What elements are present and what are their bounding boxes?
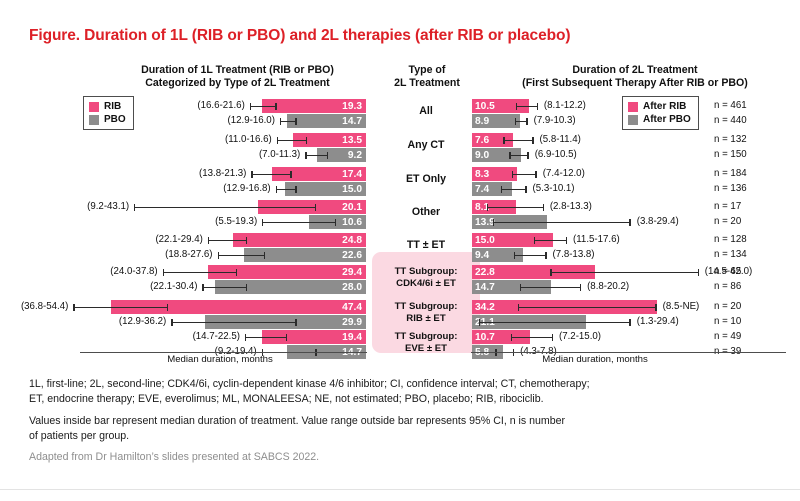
n-count-label: n = 10 xyxy=(714,316,741,327)
n-count-label: n = 86 xyxy=(714,281,741,292)
bar-pbo: 15.0 xyxy=(285,182,366,196)
category-label-line1: TT Subgroup: xyxy=(370,301,482,313)
n-count-label: n = 184 xyxy=(714,168,747,179)
category-label-1: Any CT xyxy=(370,139,482,151)
n-count-label: n = 136 xyxy=(714,183,747,194)
footnote-note-line1: Values inside bar represent median durat… xyxy=(29,414,781,429)
bar-value-label: 29.4 xyxy=(342,267,362,278)
right-axis-title: Median duration, months xyxy=(480,354,710,365)
category-label-3: Other xyxy=(370,206,482,218)
bar-pbo: 14.7 xyxy=(472,280,551,294)
category-label-line2: EVE ± ET xyxy=(370,343,482,355)
bar-pbo: 21.1 xyxy=(472,315,586,329)
n-count-label: n = 440 xyxy=(714,115,747,126)
ci-label-right-chart: (3.8-29.4) xyxy=(637,216,679,227)
bar-value-label: 20.1 xyxy=(342,202,362,213)
bar-pbo: 28.0 xyxy=(215,280,366,294)
category-label-2: ET Only xyxy=(370,173,482,185)
ci-label-right-chart: (8.5-NE) xyxy=(663,301,700,312)
bar-rib: 20.1 xyxy=(258,200,366,214)
bar-value-label: 14.7 xyxy=(342,116,362,127)
left-panel-header-line1: Duration of 1L Treatment (RIB or PBO) xyxy=(95,64,380,77)
legend-item-after-pbo: After PBO xyxy=(628,113,691,126)
n-count-label: n = 128 xyxy=(714,234,747,245)
ci-label-right-chart: (14.5-42.0) xyxy=(705,266,752,277)
middle-column-header: Type of 2L Treatment xyxy=(372,64,482,89)
bar-rib: 19.3 xyxy=(262,99,366,113)
chart-duration-1l: 19.314.713.59.217.415.020.110.624.822.62… xyxy=(80,94,366,353)
bar-pbo: 14.7 xyxy=(287,114,366,128)
bar-rib: 19.4 xyxy=(262,330,366,344)
n-count-label: n = 49 xyxy=(714,331,741,342)
legend-item-after-rib: After RIB xyxy=(628,100,691,113)
bar-value-label: 15.0 xyxy=(342,184,362,195)
ci-label-left-chart: (36.8-54.4) xyxy=(21,301,68,312)
category-label-5: TT Subgroup:CDK4/6i ± ET xyxy=(370,266,482,290)
category-label-6: TT Subgroup:RIB ± ET xyxy=(370,301,482,325)
middle-column-header-line2: 2L Treatment xyxy=(372,77,482,90)
legend-right: After RIB After PBO xyxy=(622,96,699,130)
n-count-label: n = 461 xyxy=(714,100,747,111)
footnote-note-line2: of patients per group. xyxy=(29,429,781,444)
n-count-label: n = 20 xyxy=(714,301,741,312)
bar-pbo: 29.9 xyxy=(205,315,366,329)
legend-swatch-after-rib-icon xyxy=(628,102,638,112)
legend-label-after-rib: After RIB xyxy=(643,101,686,112)
n-count-label: n = 132 xyxy=(714,134,747,145)
category-label-line1: TT Subgroup: xyxy=(370,266,482,278)
bar-value-label: 47.4 xyxy=(342,302,362,313)
bar-pbo: 13.9 xyxy=(472,215,547,229)
category-label-4: TT ± ET xyxy=(370,239,482,251)
bar-value-label: 13.5 xyxy=(342,135,362,146)
left-axis-title: Median duration, months xyxy=(130,354,310,365)
category-label-line1: TT Subgroup: xyxy=(370,331,482,343)
bar-value-label: 29.9 xyxy=(342,317,362,328)
category-label-line2: RIB ± ET xyxy=(370,313,482,325)
bar-rib: 34.2 xyxy=(472,300,657,314)
bar-value-label: 10.6 xyxy=(342,217,362,228)
n-count-label: n = 20 xyxy=(714,216,741,227)
bottom-divider xyxy=(0,489,800,490)
footnote-abbrev-line1: 1L, first-line; 2L, second-line; CDK4/6i… xyxy=(29,377,781,392)
right-panel-header-line1: Duration of 2L Treatment xyxy=(470,64,800,77)
chart-duration-2l: 10.58.97.69.08.37.48.113.915.09.422.814.… xyxy=(472,94,600,353)
ci-label-right-chart: (1.3-29.4) xyxy=(637,316,679,327)
bar-value-label: 19.4 xyxy=(342,332,362,343)
category-label-0: All xyxy=(370,105,482,117)
bar-rib: 22.8 xyxy=(472,265,595,279)
footnote-abbrev-line2: ET, endocrine therapy; EVE, everolimus; … xyxy=(29,392,781,407)
n-count-label: n = 150 xyxy=(714,149,747,160)
bar-value-label: 17.4 xyxy=(342,169,362,180)
middle-column-header-line1: Type of xyxy=(372,64,482,77)
n-count-label: n = 65 xyxy=(714,266,741,277)
page-title: Figure. Duration of 1L (RIB or PBO) and … xyxy=(29,27,570,45)
left-panel-header: Duration of 1L Treatment (RIB or PBO) Ca… xyxy=(95,64,380,89)
footnote-source: Adapted from Dr Hamilton’s slides presen… xyxy=(29,450,781,465)
bar-pbo: 10.6 xyxy=(309,215,366,229)
bar-pbo: 22.6 xyxy=(244,248,366,262)
n-count-label: n = 17 xyxy=(714,201,741,212)
bar-rib: 29.4 xyxy=(208,265,366,279)
bar-value-label: 19.3 xyxy=(342,101,362,112)
bar-rib: 17.4 xyxy=(272,167,366,181)
right-panel-header-line2: (First Subsequent Therapy After RIB or P… xyxy=(470,77,800,90)
legend-label-after-pbo: After PBO xyxy=(643,114,691,125)
legend-swatch-after-pbo-icon xyxy=(628,115,638,125)
footnote-abbreviations: 1L, first-line; 2L, second-line; CDK4/6i… xyxy=(29,377,781,406)
bar-pbo: 9.2 xyxy=(317,148,366,162)
bar-value-label: 24.8 xyxy=(342,235,362,246)
category-label-line2: CDK4/6i ± ET xyxy=(370,278,482,290)
bar-rib: 15.0 xyxy=(472,233,553,247)
category-label-7: TT Subgroup:EVE ± ET xyxy=(370,331,482,355)
bar-value-label: 28.0 xyxy=(342,282,362,293)
n-count-label: n = 134 xyxy=(714,249,747,260)
bar-rib: 13.5 xyxy=(293,133,366,147)
bar-value-label: 9.2 xyxy=(348,150,362,161)
left-panel-header-line2: Categorized by Type of 2L Treatment xyxy=(95,77,380,90)
right-panel-header: Duration of 2L Treatment (First Subseque… xyxy=(470,64,800,89)
bar-value-label: 22.6 xyxy=(342,250,362,261)
bar-rib: 24.8 xyxy=(233,233,366,247)
category-label-column: AllAny CTET OnlyOtherTT ± ETTT Subgroup:… xyxy=(370,94,482,356)
figure-root: Figure. Duration of 1L (RIB or PBO) and … xyxy=(0,0,800,501)
footnote-note: Values inside bar represent median durat… xyxy=(29,414,781,443)
bar-rib: 47.4 xyxy=(111,300,366,314)
